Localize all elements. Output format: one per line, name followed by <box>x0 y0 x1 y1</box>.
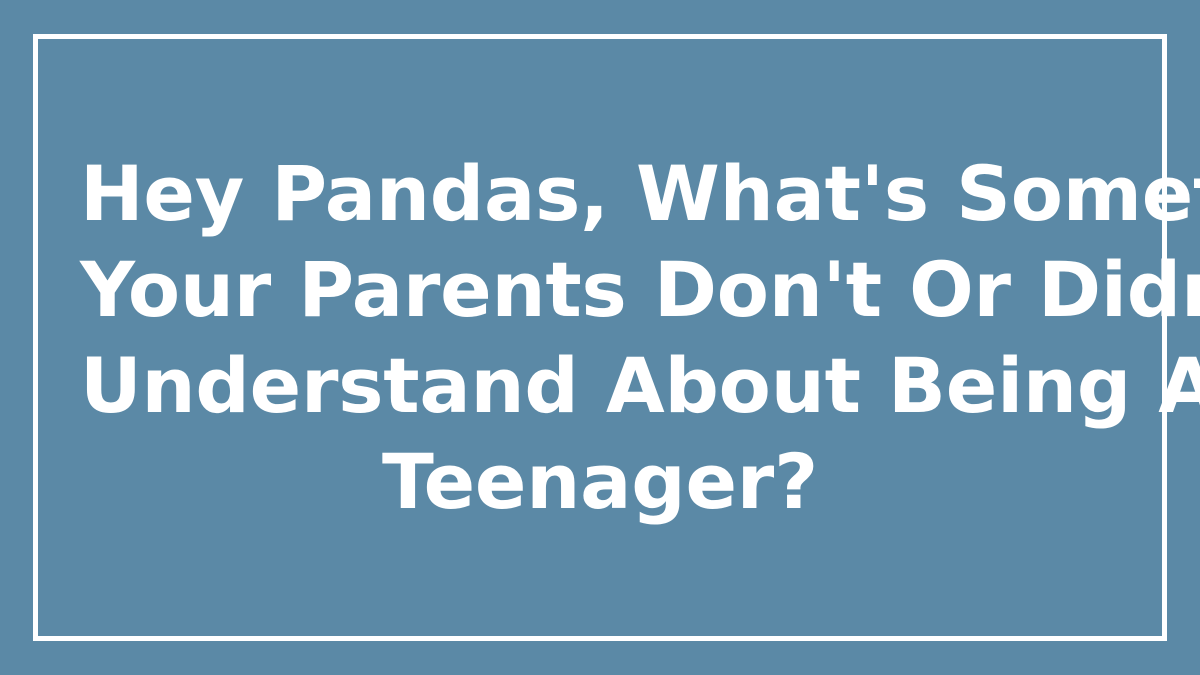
poster-headline: Hey Pandas, What's Something Your Parent… <box>80 146 1120 530</box>
poster-border-frame: Hey Pandas, What's Something Your Parent… <box>33 34 1167 641</box>
poster-canvas: Hey Pandas, What's Something Your Parent… <box>0 0 1200 675</box>
headline-line-1: Hey Pandas, What's Something <box>80 146 1120 242</box>
headline-line-3: Understand About Being A <box>80 338 1120 434</box>
headline-line-4: Teenager? <box>80 434 1120 530</box>
headline-line-2: Your Parents Don't Or Didn't <box>80 242 1120 338</box>
